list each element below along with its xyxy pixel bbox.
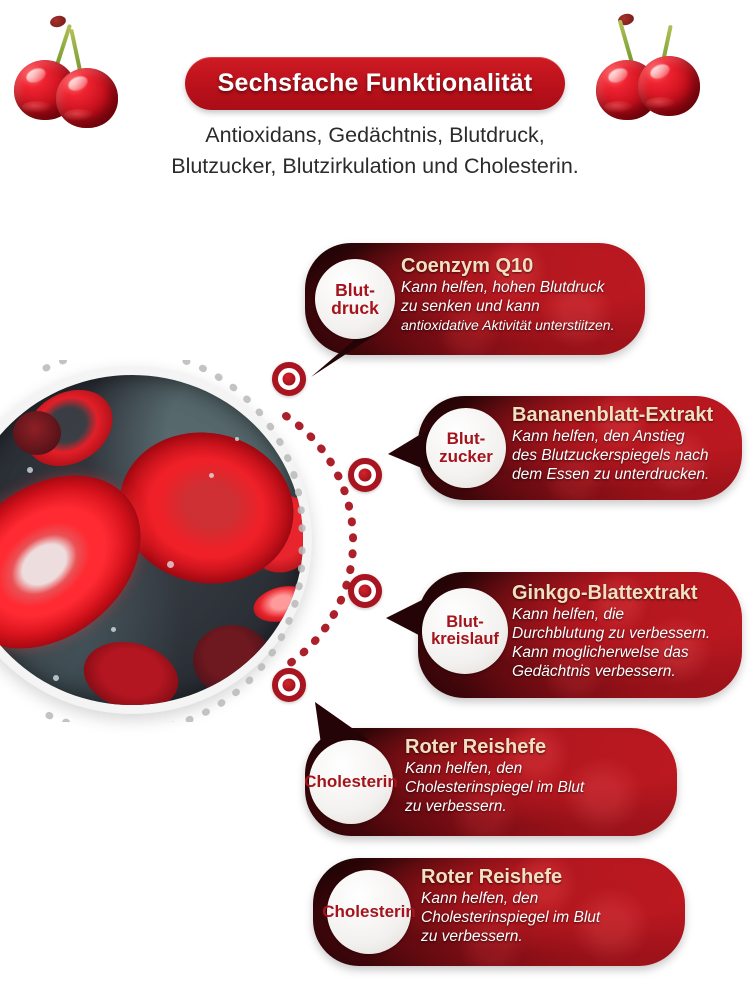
- bullseye-marker-3[interactable]: [348, 574, 382, 608]
- infographic-page: Sechsfache Funktionalität Antioxidans, G…: [0, 0, 750, 1000]
- cherry-stem-knob: [49, 14, 67, 29]
- card-description: Kann helfen, den Cholesterinspiegel im B…: [405, 760, 673, 817]
- bullseye-marker-1[interactable]: [272, 362, 306, 396]
- plasma-speck: [27, 467, 33, 473]
- card-badge-cholesterin: Cholesterin: [309, 740, 393, 824]
- badge-text: Blut- druck: [331, 281, 379, 318]
- page-subtitle: Antioxidans, Gedächtnis, Blutdruck, Blut…: [75, 120, 675, 181]
- card-content: Coenzym Q10 Kann helfen, hohen Blutdruck…: [401, 255, 641, 334]
- callout-tail: [311, 700, 373, 746]
- card-badge-blutkreislauf: Blut- kreislauf: [422, 588, 508, 674]
- card-title: Bananenblatt-Extrakt: [512, 404, 740, 427]
- page-title: Sechsfache Funktionalität: [218, 69, 533, 98]
- card-description: Kann helfen, hohen Blutdruck zu senken u…: [401, 279, 641, 334]
- card-content: Roter Reishefe Kann helfen, den Choleste…: [421, 866, 683, 947]
- cherries-right-image: [592, 4, 742, 124]
- badge-text: Blut- zucker: [439, 430, 493, 466]
- page-title-banner: Sechsfache Funktionalität: [185, 57, 565, 110]
- card-description: Kann helfen, den Cholesterinspiegel im B…: [421, 890, 683, 947]
- plasma-speck: [167, 561, 174, 568]
- red-blood-cell: [13, 411, 61, 455]
- card-description: Kann helfen, den Anstieg des Blutzuckers…: [512, 428, 740, 485]
- feature-card-roter-reishefe-2[interactable]: Cholesterin Roter Reishefe Kann helfen, …: [313, 858, 685, 966]
- red-blood-cell: [193, 625, 271, 695]
- feature-card-bananenblatt-extrakt[interactable]: Blut- zucker Bananenblatt-Extrakt Kann h…: [418, 396, 742, 500]
- plasma-speck: [111, 627, 116, 632]
- plasma-speck: [209, 473, 214, 478]
- card-content: Roter Reishefe Kann helfen, den Choleste…: [405, 736, 673, 817]
- red-blood-cell: [76, 632, 185, 705]
- blood-cells-illustration: [0, 366, 312, 714]
- cherries-left-image: [8, 8, 158, 128]
- card-title: Roter Reishefe: [405, 736, 673, 759]
- card-content: Bananenblatt-Extrakt Kann helfen, den An…: [512, 404, 740, 485]
- feature-card-ginkgo-blattextrakt[interactable]: Blut- kreislauf Ginkgo-Blattextrakt Kann…: [418, 572, 742, 698]
- card-title: Coenzym Q10: [401, 255, 641, 278]
- subtitle-line-1: Antioxidans, Gedächtnis, Blutdruck,: [75, 120, 675, 151]
- feature-card-roter-reishefe-1[interactable]: Cholesterin Roter Reishefe Kann helfen, …: [305, 728, 677, 836]
- red-blood-cell: [250, 580, 303, 627]
- cherry-fruit: [56, 68, 118, 128]
- plasma-speck: [53, 675, 59, 681]
- card-description: Kann helfen, die Durchblutung zu verbess…: [512, 606, 742, 682]
- card-badge-cholesterin: Cholesterin: [327, 870, 411, 954]
- card-badge-blutdruck: Blut- druck: [315, 259, 395, 339]
- bullseye-marker-4[interactable]: [272, 668, 306, 702]
- card-content: Ginkgo-Blattextrakt Kann helfen, die Dur…: [512, 582, 742, 682]
- badge-text: Cholesterin: [304, 773, 398, 791]
- badge-text: Cholesterin: [322, 903, 416, 921]
- plasma-speck: [235, 437, 239, 441]
- card-title: Roter Reishefe: [421, 866, 683, 889]
- card-title: Ginkgo-Blattextrakt: [512, 582, 742, 605]
- subtitle-line-2: Blutzucker, Blutzirkulation und Choleste…: [75, 151, 675, 182]
- feature-card-coenzym-q10[interactable]: Blut- druck Coenzym Q10 Kann helfen, hoh…: [305, 243, 645, 355]
- bullseye-marker-2[interactable]: [348, 458, 382, 492]
- card-badge-blutzucker: Blut- zucker: [426, 408, 506, 488]
- cherry-fruit: [638, 56, 700, 116]
- badge-text: Blut- kreislauf: [431, 614, 499, 649]
